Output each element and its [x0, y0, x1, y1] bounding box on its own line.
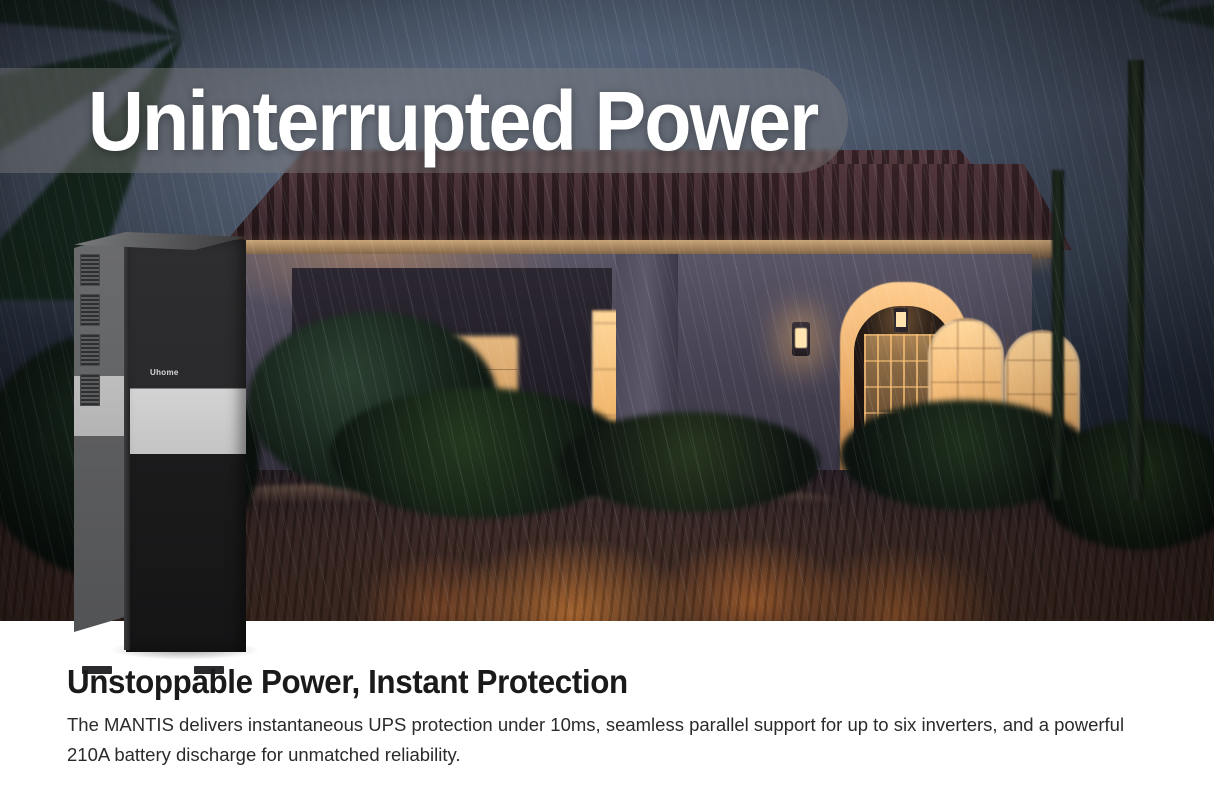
palm-fronds-right — [854, 0, 1214, 260]
product-brand-logo: Uhome — [150, 368, 179, 377]
product-feature-page: Uninterrupted Power Uhome Unstoppable Po… — [0, 0, 1214, 809]
palm-trunk-right — [1128, 60, 1144, 500]
vent-icon — [80, 254, 100, 286]
vent-icon — [80, 294, 100, 326]
copy-block: Unstoppable Power, Instant Protection Th… — [67, 662, 1157, 770]
product-side-panel — [74, 232, 128, 632]
hero-headline: Uninterrupted Power — [88, 79, 817, 163]
palm-trunk-right-2 — [1052, 170, 1064, 500]
product-image: Uhome — [74, 232, 246, 668]
wall-lantern-icon — [792, 322, 810, 356]
section-body: The MANTIS delivers instantaneous UPS pr… — [67, 710, 1132, 770]
foliage-mid — [560, 412, 820, 512]
headline-banner: Uninterrupted Power — [0, 68, 848, 173]
product-corner-edge — [124, 238, 130, 650]
product-front-panel — [126, 240, 246, 652]
vent-icon — [80, 334, 100, 366]
ventilation-grilles — [80, 254, 102, 414]
section-title: Unstoppable Power, Instant Protection — [67, 662, 1103, 702]
wall-sconce-icon — [894, 308, 908, 332]
vent-icon — [80, 374, 100, 406]
